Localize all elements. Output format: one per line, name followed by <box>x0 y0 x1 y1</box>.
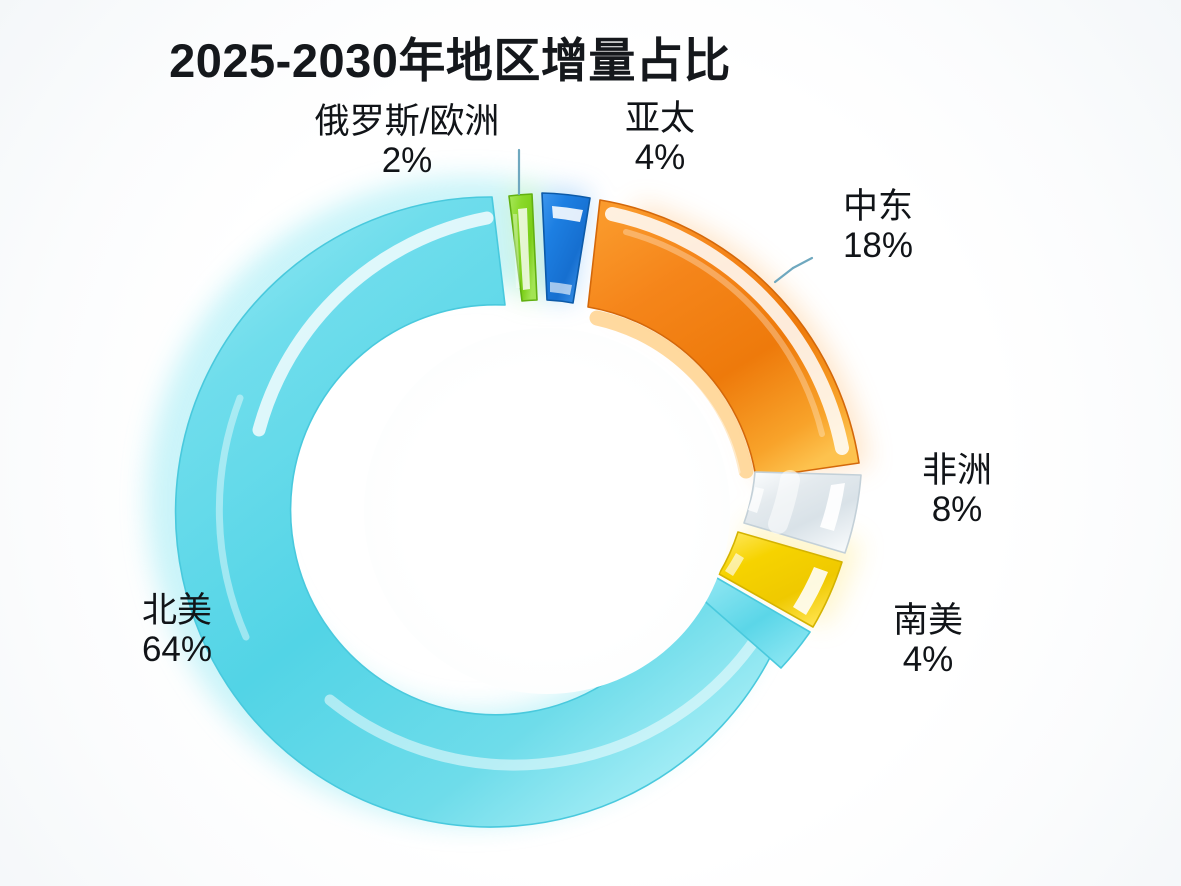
slice-label-name: 俄罗斯/欧洲 <box>272 103 542 140</box>
slice-label-value: 2% <box>272 142 542 179</box>
slice-label-name: 非洲 <box>862 452 1052 489</box>
slice-label-middle-east: 中东 18% <box>778 188 978 264</box>
donut-hole <box>364 328 730 694</box>
slice-label-africa: 非洲 8% <box>862 452 1052 528</box>
slice-label-value: 18% <box>778 227 978 264</box>
slice-label-value: 4% <box>565 139 755 176</box>
slice-label-name: 南美 <box>838 602 1018 639</box>
slice-label-south-america: 南美 4% <box>838 602 1018 678</box>
slice-label-name: 中东 <box>778 188 978 225</box>
leader-line-middle-east-b <box>775 268 793 282</box>
slice-label-name: 北美 <box>82 592 272 629</box>
slice-label-name: 亚太 <box>565 100 755 137</box>
slice-label-russia-europe: 俄罗斯/欧洲 2% <box>272 103 542 179</box>
slice-asia-pacific[interactable] <box>542 193 590 303</box>
slice-label-value: 64% <box>82 631 272 668</box>
slice-label-value: 8% <box>862 491 1052 528</box>
slice-label-north-america: 北美 64% <box>82 592 272 668</box>
donut-chart: 2025-2030年地区增量占比 <box>0 0 1181 886</box>
slice-label-value: 4% <box>838 641 1018 678</box>
slice-label-asia-pacific: 亚太 4% <box>565 100 755 176</box>
